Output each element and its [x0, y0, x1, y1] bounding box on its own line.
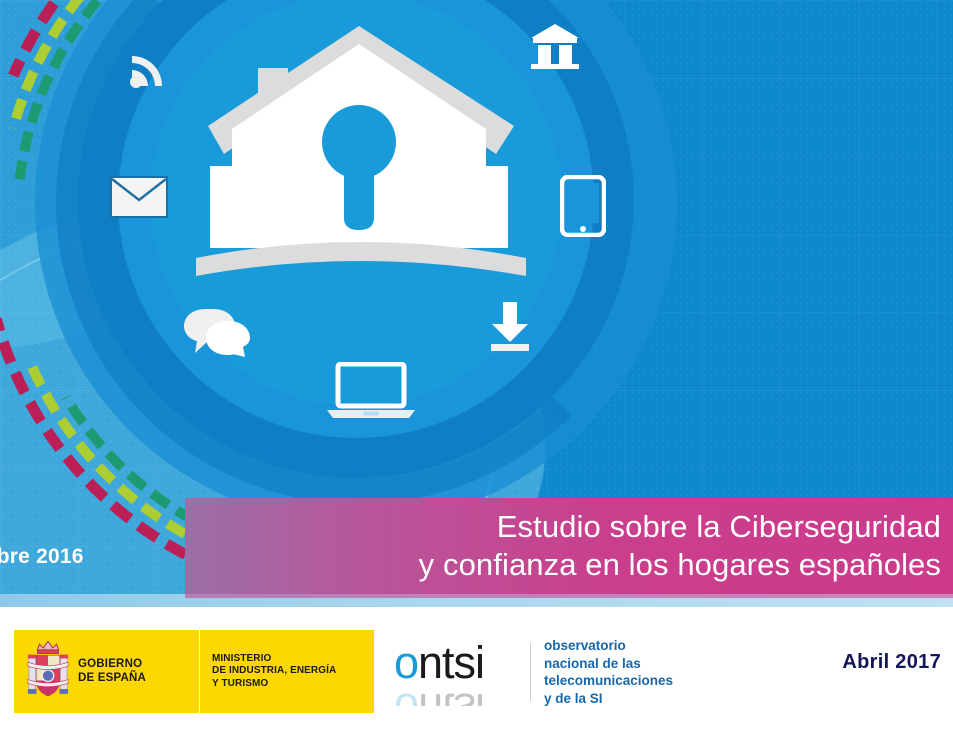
cover-title-line-2: y confianza en los hogares españoles [419, 546, 941, 584]
svg-text:ontsi: ontsi [394, 684, 484, 706]
wifi-icon [126, 44, 174, 92]
bottom-strip-accent [185, 594, 953, 598]
chat-icon [182, 307, 254, 359]
ministerio-block: MINISTERIO DE INDUSTRIA, ENERGÍA Y TURIS… [200, 630, 374, 713]
gobierno-de-espana-logo: GOBIERNO DE ESPAÑA MINISTERIO DE INDUSTR… [14, 630, 374, 713]
spain-coat-of-arms-icon [26, 637, 70, 706]
ontsi-logo: ontsi ontsi observatorio nacional de las… [394, 637, 673, 707]
ontsi-wordmark: ontsi ontsi [394, 638, 526, 706]
ontsi-description: observatorio nacional de las telecomunic… [544, 637, 673, 707]
ontsi-divider [530, 643, 531, 701]
cover-footer: GOBIERNO DE ESPAÑA MINISTERIO DE INDUSTR… [0, 607, 953, 732]
publication-date: Abril 2017 [842, 651, 941, 674]
laptop-icon [325, 362, 417, 420]
download-icon [489, 300, 531, 352]
cover-title-line-1: Estudio sobre la Ciberseguridad [497, 508, 941, 546]
house-lock-icon [196, 8, 526, 298]
tablet-icon [560, 175, 606, 237]
gobierno-label: GOBIERNO DE ESPAÑA [78, 658, 146, 685]
cover-title-banner: Estudio sobre la Ciberseguridad y confia… [185, 498, 953, 594]
bottom-strip [0, 594, 953, 607]
envelope-icon [110, 176, 168, 218]
ministerio-label: MINISTERIO DE INDUSTRIA, ENERGÍA Y TURIS… [212, 653, 336, 691]
bank-icon [529, 22, 581, 70]
svg-text:ontsi: ontsi [394, 638, 484, 688]
gobierno-block: GOBIERNO DE ESPAÑA [14, 630, 200, 713]
cover-period-label: embre 2016 [0, 545, 166, 569]
cover-hero: embre 2016 Estudio sobre la Cibersegurid… [0, 0, 953, 607]
cover-page: embre 2016 Estudio sobre la Cibersegurid… [0, 0, 953, 732]
